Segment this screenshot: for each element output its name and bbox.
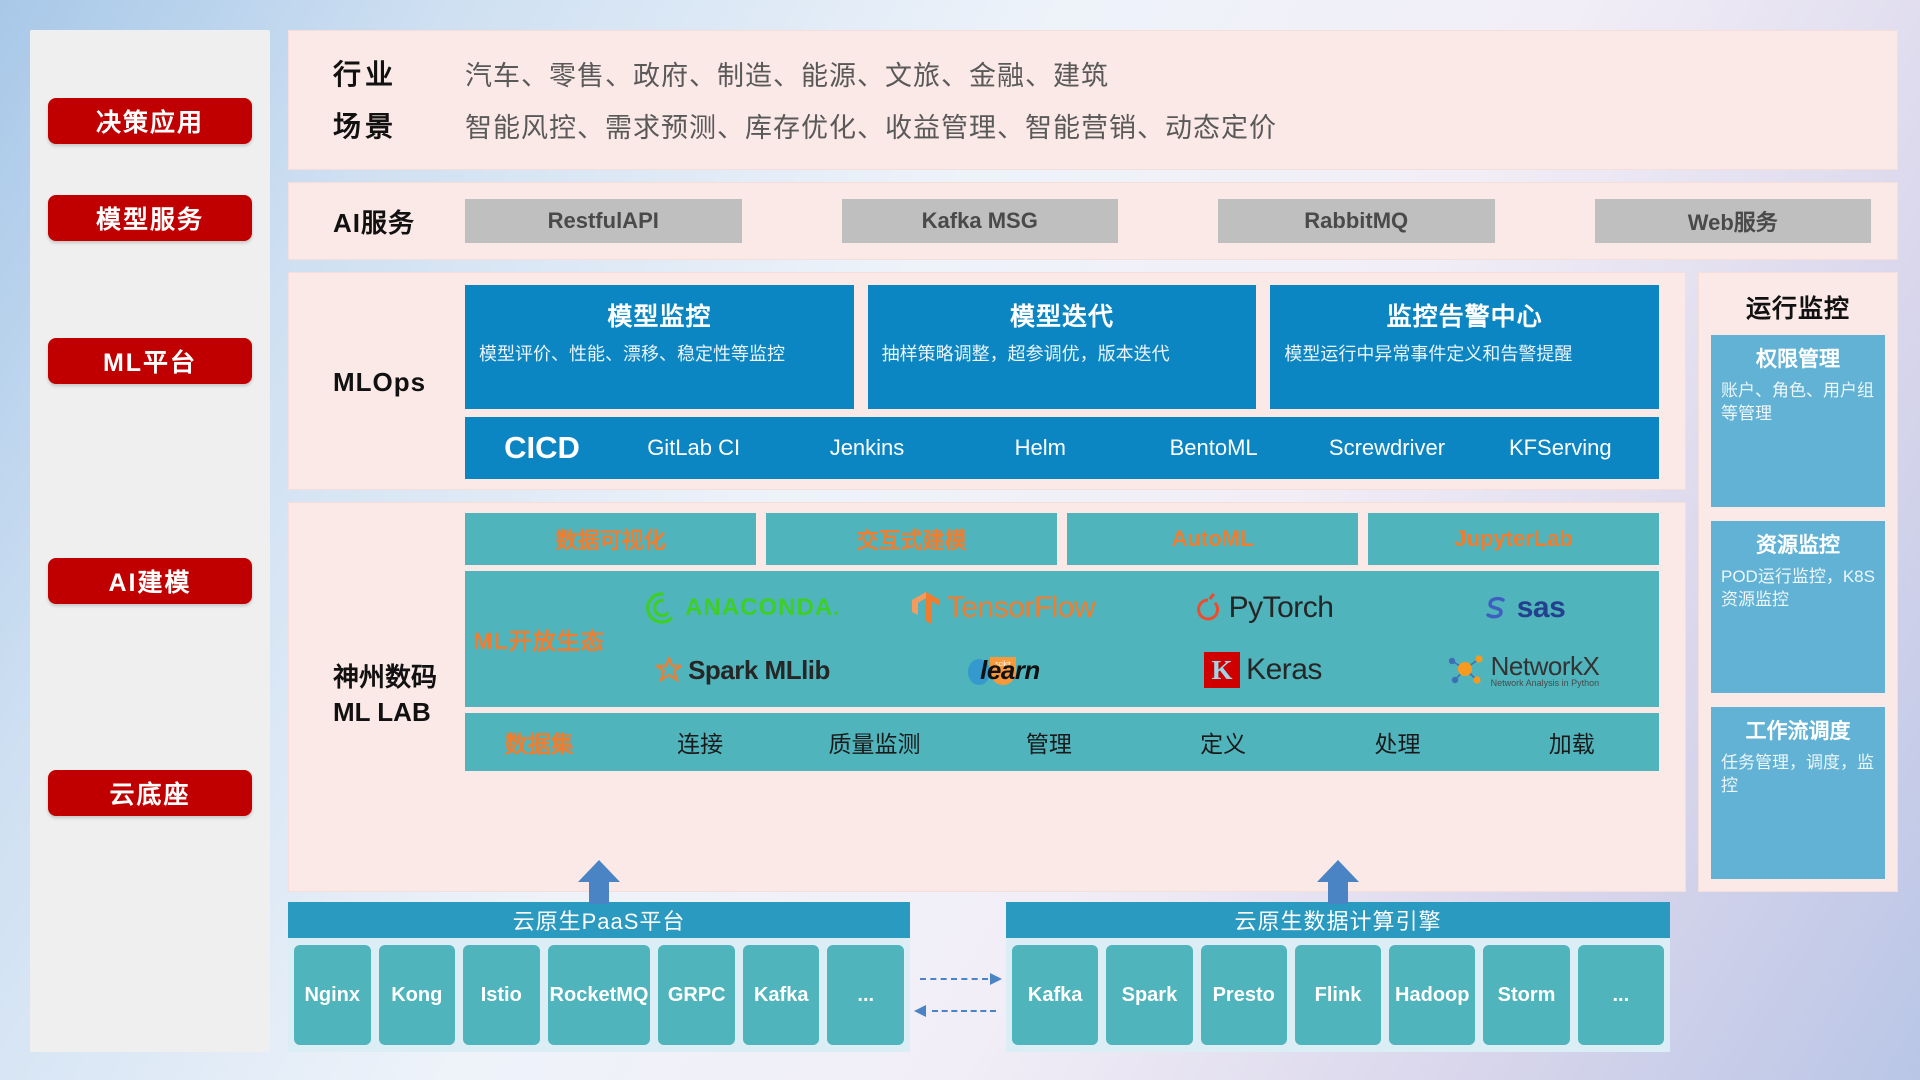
- dataset-item-manage[interactable]: 管理: [962, 725, 1136, 759]
- content-column: 行业 场景 汽车、零售、政府、制造、能源、文旅、金融、建筑 智能风控、需求预测、…: [288, 30, 1898, 1052]
- dataset-item-load[interactable]: 加载: [1485, 725, 1659, 759]
- ml-lab-tabs: 数据可视化 交互式建模 AutoML JupyterLab: [465, 513, 1659, 565]
- ml-lab-body: 数据可视化 交互式建模 AutoML JupyterLab ML开放生态: [465, 513, 1659, 877]
- paas-chip-istio[interactable]: Istio: [463, 945, 540, 1045]
- anaconda-logo: ANACONDA.: [613, 577, 873, 639]
- ai-service-chips: RestfulAPI Kafka MSG RabbitMQ Web服务: [465, 199, 1871, 243]
- spacer: [288, 170, 1898, 182]
- scenario-label: 场景: [315, 99, 465, 151]
- engine-chip-more[interactable]: ...: [1578, 945, 1664, 1045]
- data-engine-title: 云原生数据计算引擎: [1006, 902, 1670, 938]
- monitor-card-resource[interactable]: 资源监控 POD运行监控，K8S资源监控: [1711, 521, 1885, 693]
- scikit-learn-logo: scikit learn: [873, 639, 1133, 701]
- ai-chip-kafka-msg[interactable]: Kafka MSG: [842, 199, 1119, 243]
- ai-chip-restfulapi[interactable]: RestfulAPI: [465, 199, 742, 243]
- industry-value: 汽车、零售、政府、制造、能源、文旅、金融、建筑: [465, 47, 1871, 99]
- dataset-item-connect[interactable]: 连接: [613, 725, 787, 759]
- card-desc: 任务管理，调度，监控: [1721, 752, 1875, 798]
- networkx-logo-tagline: Network Analysis in Python: [1491, 679, 1600, 688]
- runtime-monitor-title: 运行监控: [1711, 283, 1885, 335]
- cicd-item-jenkins[interactable]: Jenkins: [780, 436, 953, 461]
- rail-item-model-service[interactable]: 模型服务: [48, 195, 252, 241]
- ai-service-label: AI服务: [315, 203, 465, 240]
- rail-item-ml-platform[interactable]: ML平台: [48, 338, 252, 384]
- card-desc: 模型评价、性能、漂移、稳定性等监控: [479, 342, 840, 366]
- cicd-item-screwdriver[interactable]: Screwdriver: [1300, 436, 1473, 461]
- cicd-item-gitlab-ci[interactable]: GitLab CI: [607, 436, 780, 461]
- card-desc: 抽样策略调整，超参调优，版本迭代: [882, 342, 1243, 366]
- cicd-bar: CICD GitLab CI Jenkins Helm BentoML Scre…: [465, 417, 1659, 479]
- card-desc: POD运行监控，K8S资源监控: [1721, 566, 1875, 612]
- rail-item-ai-modeling[interactable]: AI建模: [48, 558, 252, 604]
- keras-logo: K Keras: [1133, 639, 1393, 701]
- mlops-layer: MLOps 模型监控 模型评价、性能、漂移、稳定性等监控 模型迭代 抽样策略调整…: [288, 272, 1686, 490]
- ai-chip-web-service[interactable]: Web服务: [1595, 199, 1872, 243]
- tab-automl[interactable]: AutoML: [1067, 513, 1358, 565]
- engine-chip-list: Kafka Spark Presto Flink Hadoop Storm ..…: [1006, 938, 1670, 1052]
- sas-logo: sas: [1393, 577, 1653, 639]
- card-title: 监控告警中心: [1284, 297, 1645, 333]
- platform-section: MLOps 模型监控 模型评价、性能、漂移、稳定性等监控 模型迭代 抽样策略调整…: [288, 272, 1898, 892]
- cicd-item-kfserving[interactable]: KFServing: [1474, 436, 1647, 461]
- engine-chip-presto[interactable]: Presto: [1201, 945, 1287, 1045]
- mlops-body: 模型监控 模型评价、性能、漂移、稳定性等监控 模型迭代 抽样策略调整，超参调优，…: [465, 285, 1659, 479]
- mlops-label: MLOps: [315, 285, 465, 479]
- dataset-item-process[interactable]: 处理: [1310, 725, 1484, 759]
- business-labels: 行业 场景: [315, 47, 465, 151]
- card-title: 模型迭代: [882, 297, 1243, 333]
- mlops-card-model-monitoring[interactable]: 模型监控 模型评价、性能、漂移、稳定性等监控: [465, 285, 854, 409]
- dataset-item-define[interactable]: 定义: [1136, 725, 1310, 759]
- sas-logo-text: sas: [1517, 591, 1566, 625]
- card-title: 权限管理: [1721, 343, 1875, 373]
- ai-service-layer: AI服务 RestfulAPI Kafka MSG RabbitMQ Web服务: [288, 182, 1898, 260]
- ml-lab-label-line1: 神州数码: [333, 660, 437, 695]
- data-engine-block: 云原生数据计算引擎 Kafka Spark Presto Flink Hadoo…: [1006, 902, 1670, 1052]
- dashed-arrow-left-icon: [914, 1010, 1002, 1012]
- spacer: [288, 260, 1898, 272]
- paas-chip-kong[interactable]: Kong: [379, 945, 456, 1045]
- business-values: 汽车、零售、政府、制造、能源、文旅、金融、建筑 智能风控、需求预测、库存优化、收…: [465, 47, 1871, 151]
- engine-chip-spark[interactable]: Spark: [1106, 945, 1192, 1045]
- paas-platform-title: 云原生PaaS平台: [288, 902, 910, 938]
- paas-chip-kafka[interactable]: Kafka: [743, 945, 820, 1045]
- engine-chip-storm[interactable]: Storm: [1483, 945, 1569, 1045]
- cicd-title: CICD: [477, 430, 607, 466]
- paas-chip-nginx[interactable]: Nginx: [294, 945, 371, 1045]
- rail-item-cloud-base[interactable]: 云底座: [48, 770, 252, 816]
- mlops-card-model-iteration[interactable]: 模型迭代 抽样策略调整，超参调优，版本迭代: [868, 285, 1257, 409]
- paas-chip-rocketmq[interactable]: RocketMQ: [548, 945, 651, 1045]
- ml-ecosystem-label: ML开放生态: [465, 622, 613, 656]
- paas-chip-more[interactable]: ...: [827, 945, 904, 1045]
- dashed-arrow-right-icon: [914, 978, 1002, 980]
- ai-modeling-layer: 神州数码 ML LAB 数据可视化 交互式建模 AutoML JupyterLa…: [288, 502, 1686, 892]
- layer-rail: 决策应用 模型服务 ML平台 AI建模 云底座: [30, 30, 270, 1052]
- monitor-card-workflow[interactable]: 工作流调度 任务管理，调度，监控: [1711, 707, 1885, 879]
- networkx-logo-text: NetworkX: [1491, 653, 1600, 679]
- cloud-link-arrows: [910, 902, 1006, 1052]
- anaconda-logo-text: ANACONDA.: [685, 594, 841, 622]
- spark-mllib-logo: Spark MLlib: [613, 639, 873, 701]
- cicd-item-helm[interactable]: Helm: [954, 436, 1127, 461]
- rail-item-label: ML平台: [103, 343, 197, 379]
- scikit-learn-logo-text: learn: [980, 655, 1040, 686]
- paas-platform-block: 云原生PaaS平台 Nginx Kong Istio RocketMQ GRPC…: [288, 902, 910, 1052]
- tab-interactive-modeling[interactable]: 交互式建模: [766, 513, 1057, 565]
- engine-chip-hadoop[interactable]: Hadoop: [1389, 945, 1475, 1045]
- card-desc: 模型运行中异常事件定义和告警提醒: [1284, 342, 1645, 366]
- monitor-card-permission[interactable]: 权限管理 账户、角色、用户组等管理: [1711, 335, 1885, 507]
- mlops-cards: 模型监控 模型评价、性能、漂移、稳定性等监控 模型迭代 抽样策略调整，超参调优，…: [465, 285, 1659, 409]
- keras-logo-text: Keras: [1246, 653, 1322, 687]
- rail-item-decision-app[interactable]: 决策应用: [48, 98, 252, 144]
- cloud-foundation-layer: 云原生PaaS平台 Nginx Kong Istio RocketMQ GRPC…: [288, 902, 1898, 1052]
- tab-jupyterlab[interactable]: JupyterLab: [1368, 513, 1659, 565]
- ml-lab-label-line2: ML LAB: [333, 695, 437, 730]
- ml-ecosystem-panel: ML开放生态 ANACONDA.: [465, 571, 1659, 707]
- keras-logo-mark: K: [1204, 652, 1240, 688]
- ml-ecosystem-logos: ANACONDA. TensorFlow: [613, 577, 1653, 701]
- architecture-diagram: 决策应用 模型服务 ML平台 AI建模 云底座 行业 场景 汽车、零售、政府、制…: [0, 0, 1920, 1080]
- card-desc: 账户、角色、用户组等管理: [1721, 380, 1875, 426]
- dataset-bar: 数据集 连接 质量监测 管理 定义 处理 加载: [465, 713, 1659, 771]
- tensorflow-logo: TensorFlow: [873, 577, 1133, 639]
- rail-item-label: 决策应用: [96, 103, 204, 139]
- tab-data-visualization[interactable]: 数据可视化: [465, 513, 756, 565]
- rail-item-label: 云底座: [109, 775, 190, 811]
- business-layer: 行业 场景 汽车、零售、政府、制造、能源、文旅、金融、建筑 智能风控、需求预测、…: [288, 30, 1898, 170]
- tensorflow-logo-text: TensorFlow: [947, 591, 1095, 625]
- mlops-card-alert-center[interactable]: 监控告警中心 模型运行中异常事件定义和告警提醒: [1270, 285, 1659, 409]
- dataset-item-quality[interactable]: 质量监测: [787, 725, 961, 759]
- pytorch-logo: PyTorch: [1133, 577, 1393, 639]
- industry-label: 行业: [315, 47, 465, 99]
- rail-item-label: AI建模: [108, 563, 191, 599]
- card-title: 资源监控: [1721, 529, 1875, 559]
- runtime-monitor-panel: 运行监控 权限管理 账户、角色、用户组等管理 资源监控 POD运行监控，K8S资…: [1698, 272, 1898, 892]
- networkx-logo: NetworkX Network Analysis in Python: [1393, 639, 1653, 701]
- engine-chip-kafka[interactable]: Kafka: [1012, 945, 1098, 1045]
- ml-lab-label: 神州数码 ML LAB: [315, 513, 465, 877]
- ai-chip-rabbitmq[interactable]: RabbitMQ: [1218, 199, 1495, 243]
- scenario-value: 智能风控、需求预测、库存优化、收益管理、智能营销、动态定价: [465, 99, 1871, 151]
- engine-chip-flink[interactable]: Flink: [1295, 945, 1381, 1045]
- platform-main: MLOps 模型监控 模型评价、性能、漂移、稳定性等监控 模型迭代 抽样策略调整…: [288, 272, 1686, 892]
- card-title: 工作流调度: [1721, 715, 1875, 745]
- paas-chip-list: Nginx Kong Istio RocketMQ GRPC Kafka ...: [288, 938, 910, 1052]
- cicd-item-bentoml[interactable]: BentoML: [1127, 436, 1300, 461]
- spark-mllib-logo-text: Spark MLlib: [688, 655, 830, 686]
- card-title: 模型监控: [479, 297, 840, 333]
- spacer: [288, 490, 1686, 502]
- dataset-label: 数据集: [465, 725, 613, 759]
- rail-item-label: 模型服务: [96, 200, 204, 236]
- paas-chip-grpc[interactable]: GRPC: [658, 945, 735, 1045]
- pytorch-logo-text: PyTorch: [1229, 591, 1334, 625]
